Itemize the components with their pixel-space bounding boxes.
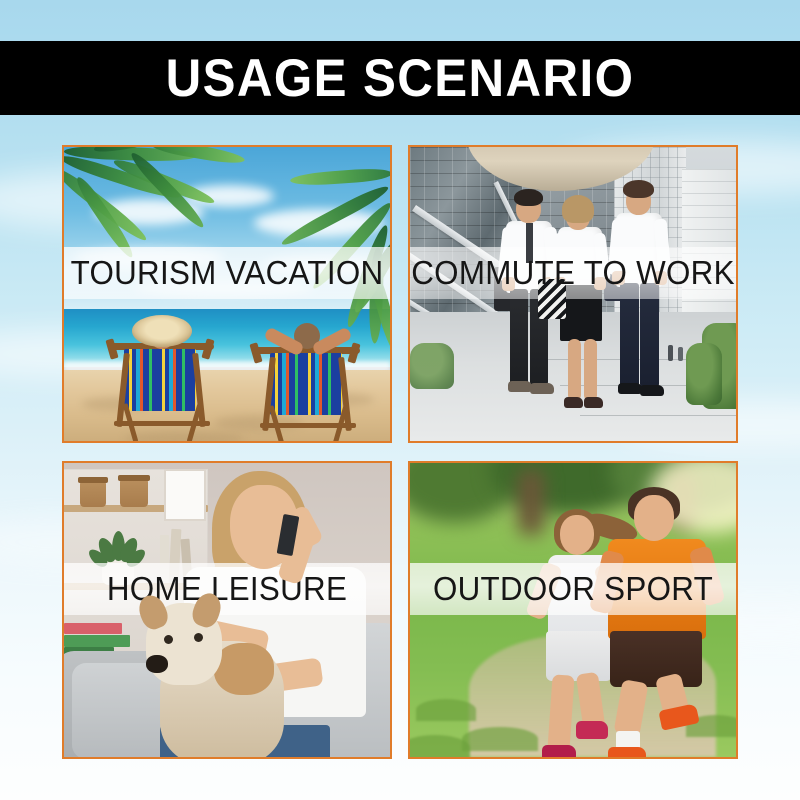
- scenario-grid: TOURISM VACATION: [62, 145, 738, 759]
- book: [64, 623, 122, 634]
- page-title: USAGE SCENARIO: [166, 52, 635, 105]
- storage-jar: [120, 479, 148, 507]
- book: [64, 635, 130, 647]
- palm-tree-left: [64, 147, 244, 261]
- hedge: [686, 343, 722, 405]
- deck-chair-right: [252, 329, 364, 441]
- card-caption: OUTDOOR SPORT: [418, 563, 728, 615]
- pavement-line: [580, 415, 736, 416]
- scenario-card-outdoor-sport[interactable]: OUTDOOR SPORT: [408, 461, 738, 759]
- grass-tuft: [416, 699, 476, 721]
- card-caption: HOME LEISURE: [72, 563, 382, 615]
- grass-tuft: [462, 727, 538, 751]
- scenario-card-home-leisure[interactable]: HOME LEISURE: [62, 461, 392, 759]
- title-banner: USAGE SCENARIO: [0, 41, 800, 115]
- distant-pedestrian: [678, 347, 683, 361]
- deck-chair-left: [108, 333, 218, 441]
- jar-lid: [78, 477, 108, 483]
- hedge: [410, 343, 454, 389]
- jar-lid: [118, 475, 150, 481]
- card-caption: TOURISM VACATION: [72, 247, 382, 299]
- infographic-page: USAGE SCENARIO: [0, 0, 800, 800]
- card-caption: COMMUTE TO WORK: [418, 247, 728, 299]
- tree-trunk: [518, 469, 544, 535]
- storage-jar: [80, 481, 106, 507]
- distant-pedestrian: [668, 345, 673, 361]
- picture-frame: [164, 469, 206, 521]
- scenario-card-commute-to-work[interactable]: COMMUTE TO WORK: [408, 145, 738, 443]
- scenario-card-tourism-vacation[interactable]: TOURISM VACATION: [62, 145, 392, 443]
